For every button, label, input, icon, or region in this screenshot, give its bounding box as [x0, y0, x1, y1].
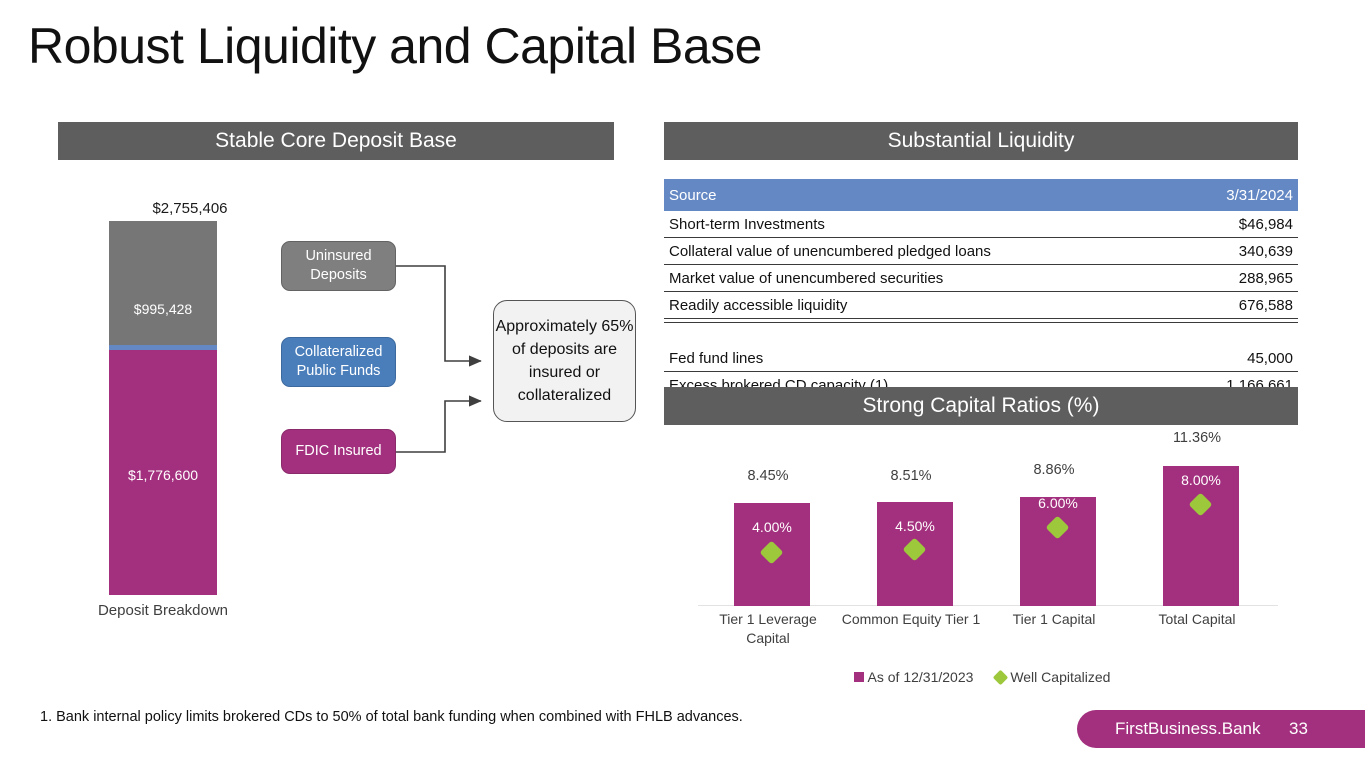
legend-label-as-of: As of 12/31/2023 — [868, 669, 974, 685]
flow-box-fdic-label: FDIC Insured — [295, 442, 381, 461]
footnote: 1. Bank internal policy limits brokered … — [40, 709, 743, 725]
left-panel: Stable Core Deposit Base $2,755,406 $995… — [58, 122, 614, 632]
flow-box-collateralized-label: Collateralized Public Funds — [282, 343, 395, 381]
legend-item-well-capitalized[interactable]: Well Capitalized — [995, 669, 1110, 685]
table-header-date: 3/31/2024 — [1184, 179, 1298, 211]
flow-box-result-label: Approximately 65% of deposits are insure… — [494, 315, 635, 407]
legend-item-as-of[interactable]: As of 12/31/2023 — [854, 669, 974, 685]
category-label-common-equity-tier1: Common Equity Tier 1 — [841, 610, 981, 629]
flow-box-uninsured-label: Uninsured Deposits — [282, 247, 395, 285]
bar-inner-label: 4.00% — [734, 519, 810, 535]
row-label: Fed fund lines — [664, 345, 1184, 372]
footer-brand-label: FirstBusiness.Bank — [1115, 719, 1261, 739]
flow-box-fdic-insured[interactable]: FDIC Insured — [281, 429, 396, 474]
section-header-capital-ratios: Strong Capital Ratios (%) — [664, 387, 1298, 425]
row-value: 45,000 — [1184, 345, 1298, 372]
table-row: Readily accessible liquidity 676,588 — [664, 292, 1298, 319]
table-spacer-row — [664, 323, 1298, 346]
bar-top-label: 8.45% — [698, 468, 838, 484]
bar-segment-fdic-label: $1,776,600 — [109, 467, 217, 483]
table-row: Fed fund lines 45,000 — [664, 345, 1298, 372]
footer-page-number: 33 — [1289, 719, 1308, 739]
bar-segment-uninsured-deposits: $995,428 — [109, 221, 217, 345]
table-header-row: Source 3/31/2024 — [664, 179, 1298, 211]
deposit-axis-label: Deposit Breakdown — [68, 602, 258, 619]
category-label-tier1-leverage: Tier 1 Leverage Capital — [698, 610, 838, 648]
category-label-total-capital: Total Capital — [1127, 610, 1267, 629]
deposit-flow-diagram: Uninsured Deposits Collateralized Public… — [223, 122, 618, 562]
capital-ratios-bar-chart: 8.45% 4.00% 8.51% 4.50% 8.86% 6.00% 11.3… — [664, 428, 1300, 698]
row-label: Short-term Investments — [664, 211, 1184, 238]
row-label: Collateral value of unencumbered pledged… — [664, 238, 1184, 265]
bar-rect — [1020, 497, 1096, 606]
table-row: Market value of unencumbered securities … — [664, 265, 1298, 292]
bar-top-label: 8.86% — [984, 462, 1124, 478]
footer-pill: FirstBusiness.Bank 33 — [1077, 710, 1365, 748]
chart-legend: As of 12/31/2023 Well Capitalized — [664, 668, 1300, 685]
table-row: Collateral value of unencumbered pledged… — [664, 238, 1298, 265]
row-label: Market value of unencumbered securities — [664, 265, 1184, 292]
category-label-tier1-capital: Tier 1 Capital — [984, 610, 1124, 629]
row-value: 288,965 — [1184, 265, 1298, 292]
diamond-swatch-icon — [993, 670, 1009, 686]
section-header-substantial-liquidity: Substantial Liquidity — [664, 122, 1298, 160]
bar-top-label: 8.51% — [841, 468, 981, 484]
row-label: Readily accessible liquidity — [664, 292, 1184, 319]
flow-box-collateralized-public-funds[interactable]: Collateralized Public Funds — [281, 337, 396, 387]
row-value: 340,639 — [1184, 238, 1298, 265]
bar-top-label: 11.36% — [1127, 430, 1267, 446]
bar-inner-label: 8.00% — [1163, 472, 1239, 488]
table-header-source: Source — [664, 179, 1184, 211]
table-row: Short-term Investments $46,984 — [664, 211, 1298, 238]
square-swatch-icon — [854, 672, 864, 682]
right-panel: Substantial Liquidity Source 3/31/2024 S… — [662, 122, 1300, 702]
legend-label-well-capitalized: Well Capitalized — [1010, 669, 1110, 685]
flow-box-uninsured-deposits[interactable]: Uninsured Deposits — [281, 241, 396, 291]
row-value: 676,588 — [1184, 292, 1298, 319]
page-title: Robust Liquidity and Capital Base — [28, 14, 762, 78]
flow-box-result-summary: Approximately 65% of deposits are insure… — [493, 300, 636, 422]
bar-inner-label: 4.50% — [877, 518, 953, 534]
row-value: $46,984 — [1184, 211, 1298, 238]
bar-segment-uninsured-label: $995,428 — [109, 301, 217, 317]
bar-inner-label: 6.00% — [1020, 495, 1096, 511]
bar-segment-fdic-insured: $1,776,600 — [109, 350, 217, 595]
